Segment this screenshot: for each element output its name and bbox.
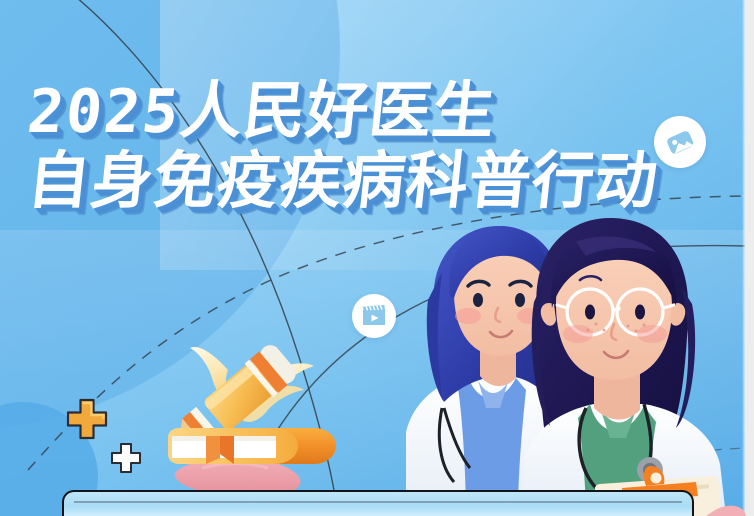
title-line-2: 自身免疫疾病科普行动 [25, 150, 662, 212]
bottom-panel[interactable] [62, 490, 694, 516]
edge-strip [745, 0, 754, 516]
image-icon[interactable]: 图片 [654, 116, 706, 168]
plus-orange-decoration [62, 394, 112, 449]
title-line-1-text: 人民好医生 [177, 74, 500, 147]
pencil-and-book-illustration [150, 312, 360, 502]
doctors-illustration [400, 212, 746, 516]
plus-icon [62, 394, 112, 444]
pencil-book-graphic [150, 312, 360, 502]
title-year: 2025 [24, 77, 184, 147]
poster-title: 2025人民好医生 自身免疫疾病科普行动 [28, 80, 658, 212]
photo-tilted-icon [664, 126, 696, 158]
doctor-right [524, 218, 746, 516]
clapperboard-play-icon [361, 304, 387, 328]
two-doctors-graphic [400, 212, 746, 516]
plus-icon [108, 440, 144, 476]
plus-white-decoration [108, 440, 144, 481]
book [168, 428, 336, 464]
poster-root: 2025人民好医生 自身免疫疾病科普行动 视频 图片 [0, 0, 754, 516]
title-line-1: 2025人民好医生 [25, 80, 662, 142]
bottom-panel-divider [74, 501, 682, 503]
video-icon[interactable]: 视频 [352, 294, 396, 338]
